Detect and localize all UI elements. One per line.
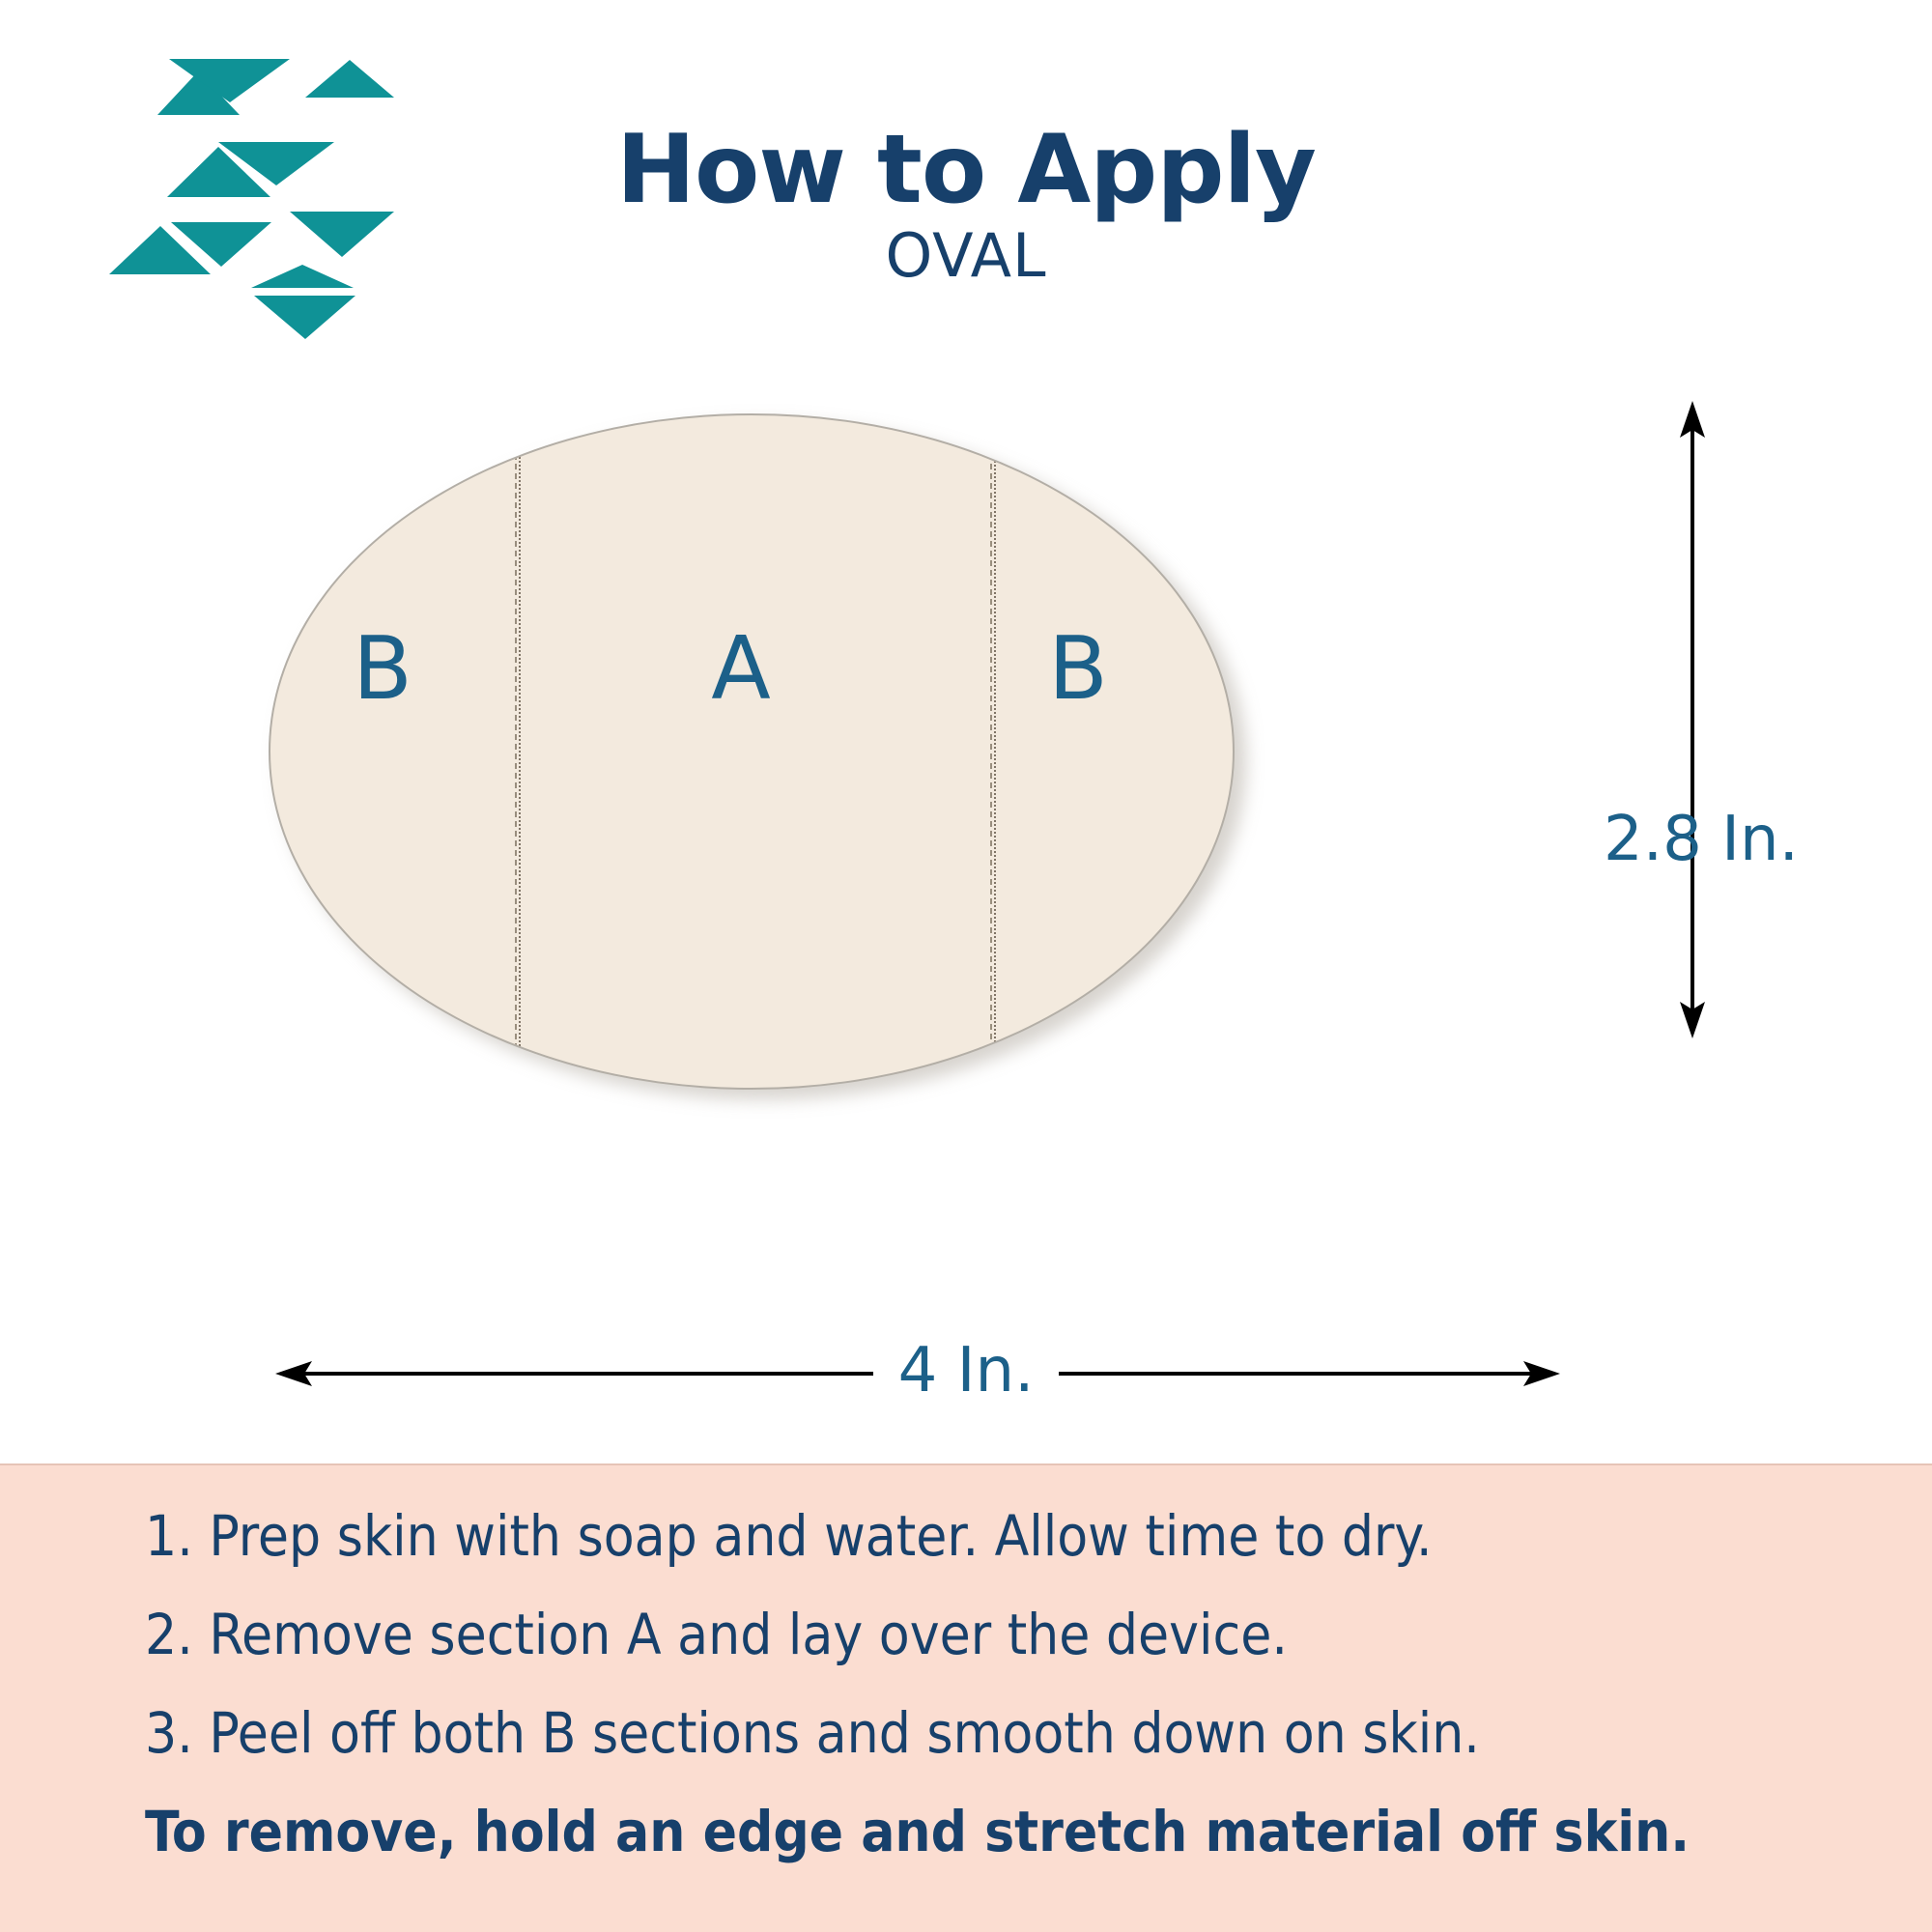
width-dimension-label: 4 In.	[0, 1335, 1932, 1406]
height-dimension-label: 2.8 In.	[1604, 804, 1799, 875]
instruction-step-1: 1. Prep skin with soap and water. Allow …	[0, 1508, 1932, 1564]
height-dimension-arrow-icon	[1676, 401, 1709, 1038]
patch-diagram: B A B 2.8 In. 4 In.	[0, 0, 1932, 1463]
instruction-step-2: 2. Remove section A and lay over the dev…	[0, 1606, 1932, 1662]
instruction-removal-note: To remove, hold an edge and stretch mate…	[0, 1804, 1932, 1860]
instruction-step-3: 3. Peel off both B sections and smooth d…	[0, 1705, 1932, 1761]
section-label-b-left: B	[315, 626, 450, 713]
perforation-line-left-inner	[519, 415, 521, 1088]
perforation-line-left	[515, 415, 517, 1088]
section-label-b-right: B	[1010, 626, 1146, 713]
section-label-a: A	[673, 626, 809, 713]
width-dimension-text: 4 In.	[873, 1335, 1060, 1406]
perforation-line-right	[990, 415, 992, 1088]
instructions-panel: 1. Prep skin with soap and water. Allow …	[0, 1463, 1932, 1932]
perforation-line-right-inner	[994, 415, 996, 1088]
oval-patch	[269, 413, 1235, 1090]
